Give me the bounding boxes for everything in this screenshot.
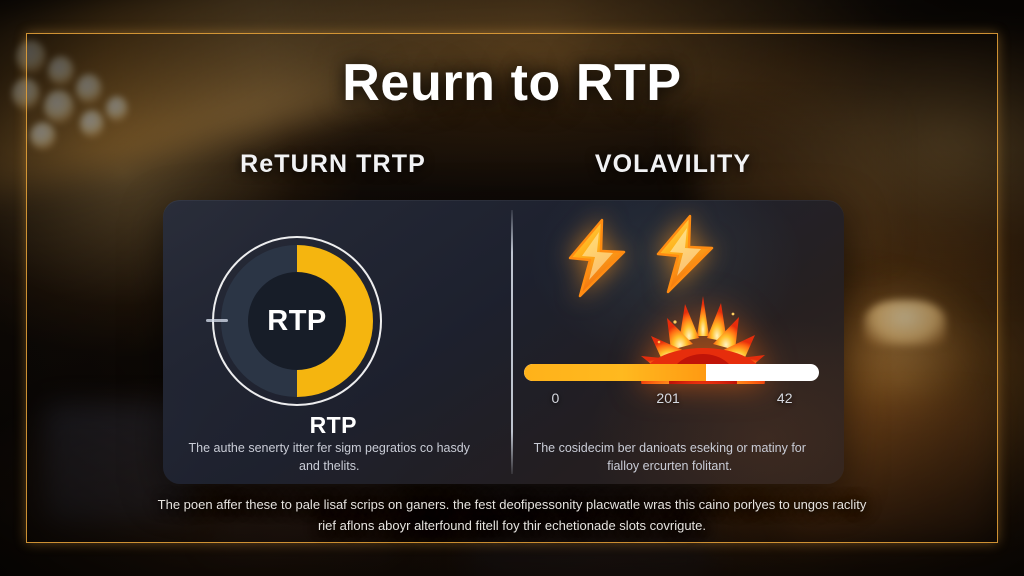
volatility-slider-ticks: 0 201 42 xyxy=(524,390,819,406)
section-heading-volatility: VOLAVILITY xyxy=(503,150,843,179)
content-root: Reurn to RTP ReTURN TRTP VOLAVILITY RTP … xyxy=(0,0,1024,576)
screenshot-stage: Reurn to RTP ReTURN TRTP VOLAVILITY RTP … xyxy=(0,0,1024,576)
rtp-donut-chart[interactable]: RTP xyxy=(212,236,382,406)
rtp-panel: RTP RTP The authe senerty itter fer sigm… xyxy=(163,200,504,484)
footer-caption: The poen affer these to pale lisaf scrip… xyxy=(150,494,874,536)
info-card: RTP RTP The authe senerty itter fer sigm… xyxy=(163,200,844,484)
volatility-slider[interactable] xyxy=(524,364,819,381)
volatility-slider-fill xyxy=(524,364,707,381)
volatility-panel-description: The cosidecim ber danioats eseking or ma… xyxy=(518,440,823,476)
rtp-panel-description: The authe senerty itter fer sigm pegrati… xyxy=(177,440,482,476)
tick-label-min: 0 xyxy=(552,390,560,406)
lightning-bolt-icon xyxy=(654,214,716,299)
tick-label-max: 42 xyxy=(777,390,793,406)
donut-tick-icon xyxy=(206,319,228,322)
donut-center-label: RTP xyxy=(267,305,327,338)
rtp-panel-title: RTP xyxy=(163,412,504,439)
section-heading-rtp: ReTURN TRTP xyxy=(163,150,503,179)
donut-center: RTP xyxy=(248,272,346,370)
page-title: Reurn to RTP xyxy=(0,53,1024,113)
volatility-panel: 0 201 42 The cosidecim ber danioats esek… xyxy=(504,200,845,484)
section-headings: ReTURN TRTP VOLAVILITY xyxy=(163,150,843,179)
tick-label-mid: 201 xyxy=(656,390,679,406)
lightning-bolt-icon xyxy=(566,218,628,303)
